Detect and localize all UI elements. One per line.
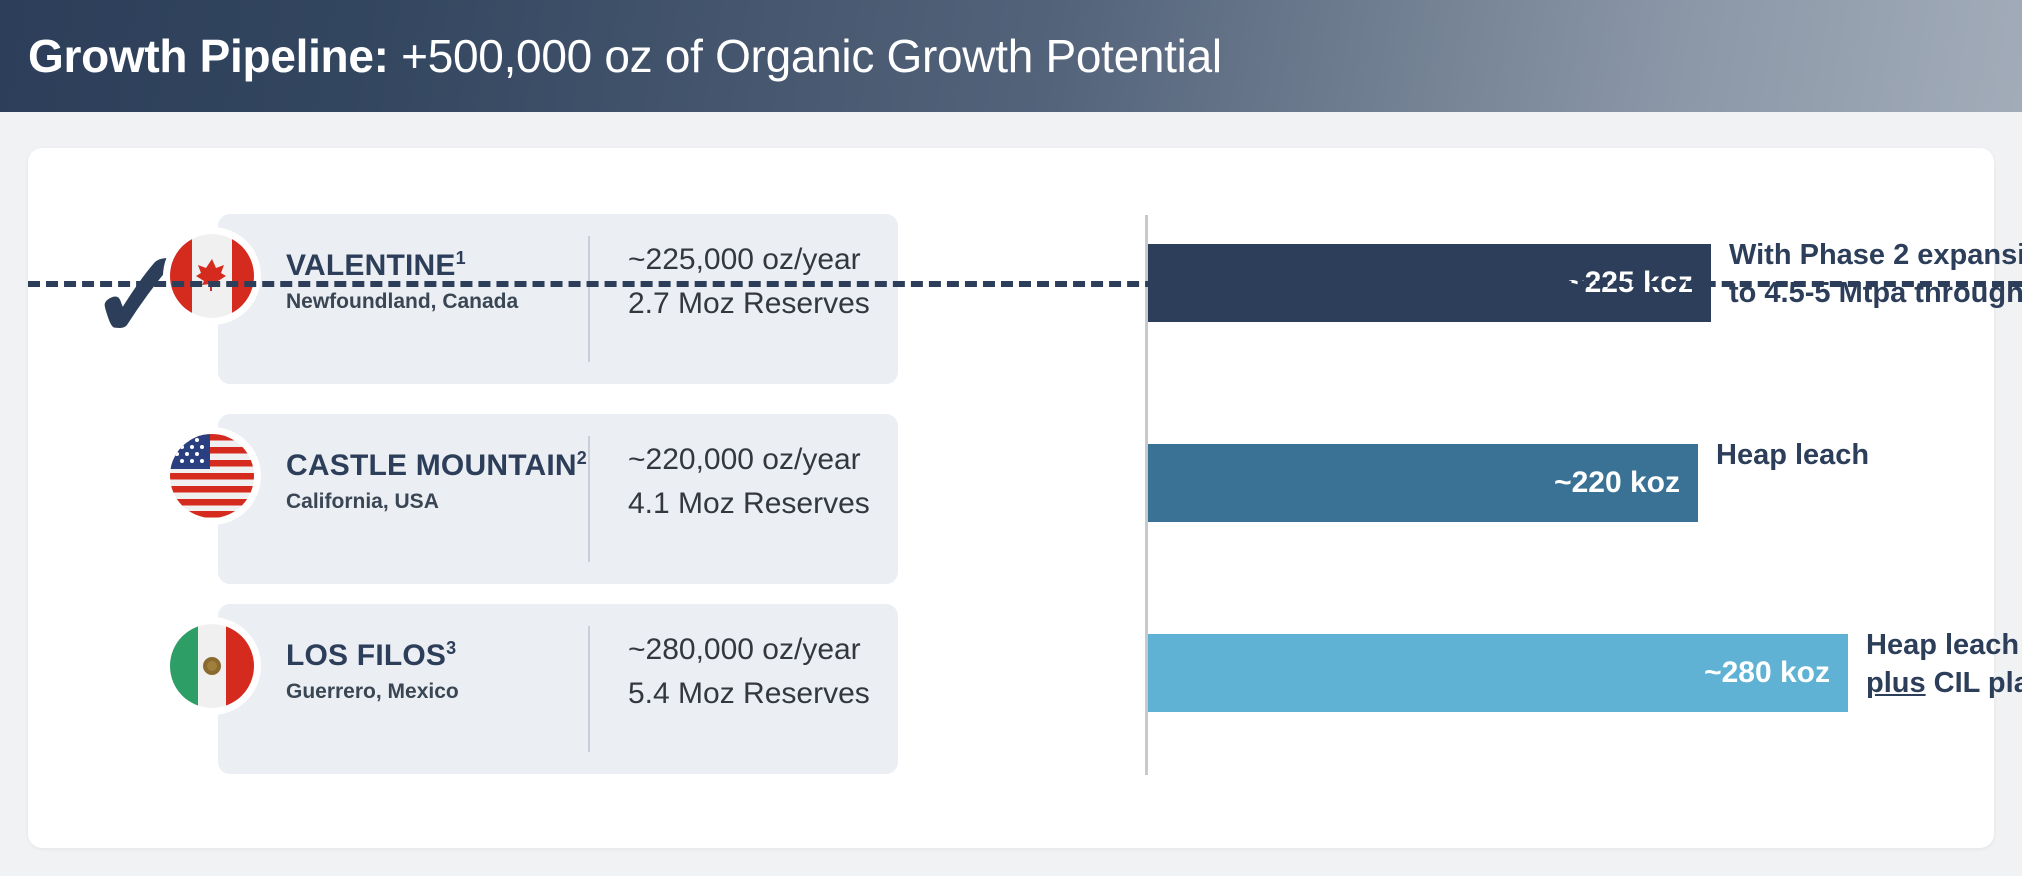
divider (588, 236, 590, 362)
section-divider (28, 281, 2022, 287)
site-production: ~220,000 oz/year (628, 438, 928, 482)
header-banner: Growth Pipeline: +500,000 oz of Organic … (0, 0, 2022, 112)
list-item[interactable]: ✓ VALENTINE1 Newfoundland, Canada ~225,0… (28, 214, 1108, 384)
site-stats: ~280,000 oz/year 5.4 Moz Reserves (628, 628, 928, 716)
list-item[interactable]: CASTLE MOUNTAIN2 California, USA ~220,00… (28, 414, 1108, 584)
site-name: LOS FILOS3 (286, 630, 566, 674)
bar-value-label: ~280 koz (1704, 656, 1830, 690)
bar-annotation-line1: Heap leach (1716, 436, 1869, 474)
site-stats: ~220,000 oz/year 4.1 Moz Reserves (628, 438, 928, 526)
bar-annotation: With Phase 2 expansion to 4.5-5 Mtpa thr… (1729, 236, 2022, 312)
site-reserves: 5.4 Moz Reserves (628, 672, 928, 716)
slide-root: Growth Pipeline: +500,000 oz of Organic … (0, 0, 2022, 876)
bar-annotation-line2: to 4.5-5 Mtpa throughput (1729, 274, 2022, 312)
site-name-text: LOS FILOS (286, 639, 446, 672)
site-name-text: VALENTINE (286, 249, 456, 282)
site-info: LOS FILOS3 Guerrero, Mexico (286, 630, 566, 707)
bar-los-filos[interactable]: ~280 koz (1148, 634, 1848, 712)
bar-annotation-line2: plus CIL plant (1866, 664, 2022, 702)
site-location: Guerrero, Mexico (286, 677, 566, 707)
flag-usa-icon (170, 434, 254, 518)
bar-annotation: Heap leach (1716, 436, 1869, 474)
site-list: ✓ VALENTINE1 Newfoundland, Canada ~225,0… (28, 148, 1108, 848)
bar-annotation-line2-rest: CIL plant (1926, 667, 2022, 699)
site-name-text: CASTLE MOUNTAIN (286, 449, 577, 482)
site-reserves: 2.7 Moz Reserves (628, 282, 928, 326)
site-name-footnote: 1 (456, 248, 466, 268)
bar-chart: ~225 koz With Phase 2 expansion to 4.5-5… (1108, 148, 2022, 848)
site-production: ~225,000 oz/year (628, 238, 928, 282)
site-location: Newfoundland, Canada (286, 287, 566, 317)
flag-canada-icon (170, 234, 254, 318)
site-name-footnote: 3 (446, 638, 456, 658)
divider (588, 436, 590, 562)
site-reserves: 4.1 Moz Reserves (628, 482, 928, 526)
bar-annotation-line1: Heap leach (1866, 626, 2022, 664)
bar-annotation-underlined: plus (1866, 667, 1926, 699)
bar-annotation: Heap leach plus CIL plant (1866, 626, 2022, 702)
bar-castle-mountain[interactable]: ~220 koz (1148, 444, 1698, 522)
bar-value-label: ~220 koz (1554, 466, 1680, 500)
site-production: ~280,000 oz/year (628, 628, 928, 672)
list-item[interactable]: LOS FILOS3 Guerrero, Mexico ~280,000 oz/… (28, 604, 1108, 774)
page-title-rest: +500,000 oz of Organic Growth Potential (389, 30, 1222, 82)
content-card: ✓ VALENTINE1 Newfoundland, Canada ~225,0… (28, 148, 1994, 848)
flag-mexico-icon (170, 624, 254, 708)
bar-annotation-line1: With Phase 2 expansion (1729, 236, 2022, 274)
page-title-bold: Growth Pipeline: (28, 30, 389, 82)
page-title: Growth Pipeline: +500,000 oz of Organic … (28, 29, 1222, 83)
site-location: California, USA (286, 487, 566, 517)
divider (588, 626, 590, 752)
site-name: VALENTINE1 (286, 240, 566, 284)
site-info: VALENTINE1 Newfoundland, Canada (286, 240, 566, 317)
site-info: CASTLE MOUNTAIN2 California, USA (286, 440, 566, 517)
site-name: CASTLE MOUNTAIN2 (286, 440, 566, 484)
site-name-footnote: 2 (577, 448, 587, 468)
